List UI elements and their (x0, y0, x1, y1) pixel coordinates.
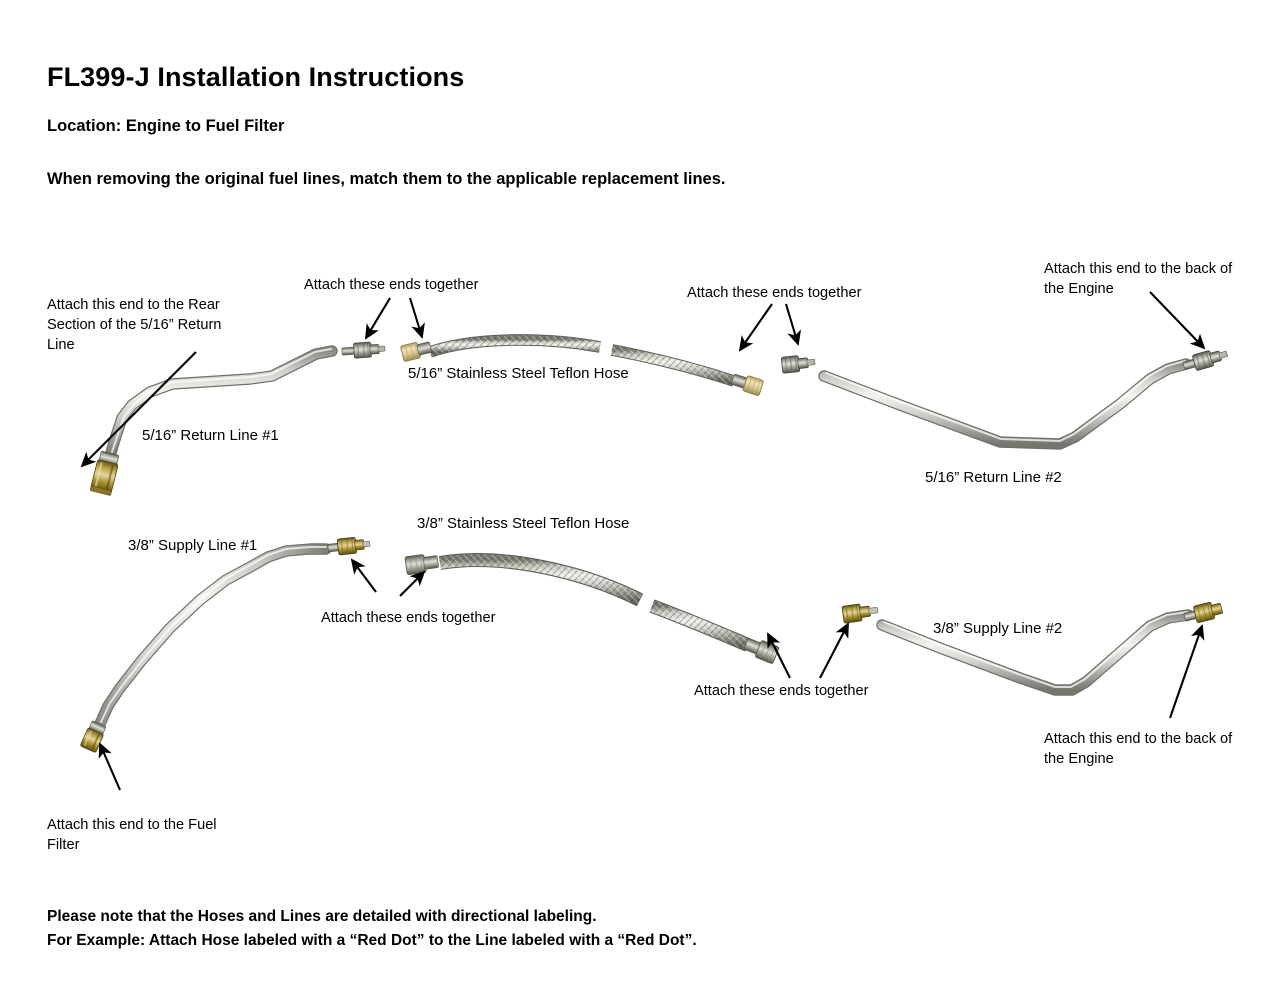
return-line-1-art (90, 341, 385, 496)
intro-instruction: When removing the original fuel lines, m… (47, 170, 725, 189)
arrow-upper-left (82, 352, 196, 466)
brass-fitting (842, 602, 879, 624)
arrow-lower-midright-a (768, 634, 790, 678)
arrow-upper-midleft-a (366, 298, 390, 338)
footer-note-1: Please note that the Hoses and Lines are… (47, 908, 597, 926)
arrow-lower-left (100, 744, 120, 790)
arrow-upper-midright-b (786, 304, 798, 344)
arrow-lower-midleft-b (400, 572, 424, 596)
footer-note-2: For Example: Attach Hose labeled with a … (47, 932, 697, 950)
arrow-lower-midright-b (820, 624, 848, 678)
lower-midright-annotation: Attach these ends together (694, 681, 868, 701)
arrow-upper-right (1150, 292, 1204, 348)
label-supply-line-2: 3/8” Supply Line #2 (933, 620, 1062, 637)
hose-end-fitting (743, 635, 779, 664)
lower-right-annotation: Attach this end to the back of the Engin… (1044, 729, 1232, 769)
supply-line-2-art (842, 600, 1224, 690)
label-return-line-1: 5/16” Return Line #1 (142, 427, 279, 444)
page-title: FL399-J Installation Instructions (47, 62, 464, 93)
label-return-hose: 5/16” Stainless Steel Teflon Hose (408, 365, 629, 382)
leader-arrows (82, 292, 1204, 790)
location-line: Location: Engine to Fuel Filter (47, 117, 284, 136)
return-hose-art (400, 339, 763, 396)
brass-fitting (80, 720, 107, 752)
label-return-line-2: 5/16” Return Line #2 (925, 469, 1062, 486)
label-supply-line-1: 3/8” Supply Line #1 (128, 537, 257, 554)
arrow-lower-right (1170, 626, 1202, 718)
upper-right-annotation: Attach this end to the back of the Engin… (1044, 259, 1232, 299)
arrow-upper-midright-a (740, 304, 772, 350)
hose-end-fitting (730, 371, 763, 395)
steel-fitting (342, 341, 386, 359)
brass-fitting (90, 451, 120, 496)
upper-midleft-annotation: Attach these ends together (304, 275, 478, 295)
upper-midright-annotation: Attach these ends together (687, 283, 861, 303)
brass-fitting (1183, 600, 1224, 626)
supply-hose-art (405, 553, 779, 664)
upper-left-annotation: Attach this end to the Rear Section of t… (47, 295, 221, 355)
brass-fitting (327, 536, 370, 556)
lower-left-annotation: Attach this end to the Fuel Filter (47, 815, 217, 855)
arrow-lower-midleft-a (352, 560, 376, 592)
hose-end-fitting (405, 553, 439, 575)
lower-midleft-annotation: Attach these ends together (321, 608, 495, 628)
arrow-upper-midleft-b (410, 298, 422, 337)
instruction-sheet: FL399-J Installation Instructions Locati… (0, 0, 1280, 989)
supply-line-1-art (80, 536, 371, 753)
steel-fitting (781, 354, 815, 373)
hose-end-fitting (400, 339, 432, 362)
steel-fitting (1182, 346, 1230, 374)
return-line-2-art (781, 346, 1229, 444)
fuel-line-diagram (0, 0, 1280, 989)
label-supply-hose: 3/8” Stainless Steel Teflon Hose (417, 515, 629, 532)
